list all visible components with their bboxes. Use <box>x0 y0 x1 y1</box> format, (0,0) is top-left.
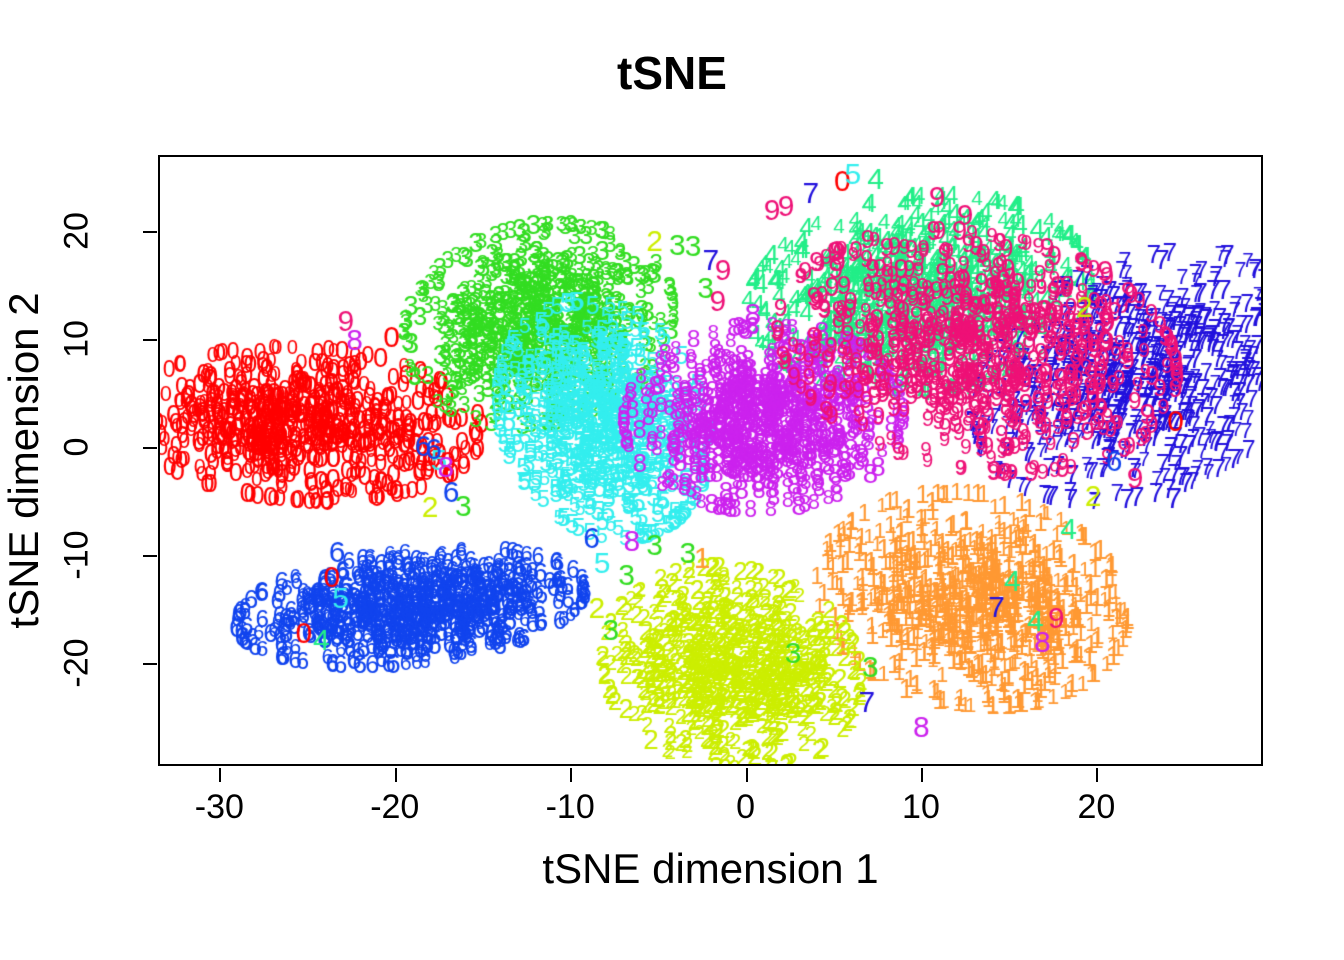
y-tick-label: -20 <box>58 613 97 713</box>
y-tick-mark <box>143 447 157 449</box>
x-tick-label: -30 <box>169 788 269 827</box>
y-tick-label: 10 <box>58 289 97 389</box>
y-axis-label: tSNE dimension 2 <box>0 155 60 766</box>
x-tick-label: 20 <box>1046 788 1146 827</box>
y-tick-mark <box>143 663 157 665</box>
x-tick-mark <box>1096 768 1098 782</box>
tsne-scatter-plot-figure: tSNE -30-20-1001020 -20-1001020 tSNE dim… <box>0 0 1344 960</box>
y-tick-label: 20 <box>58 181 97 281</box>
x-tick-mark <box>570 768 572 782</box>
x-axis-label: tSNE dimension 1 <box>158 845 1263 893</box>
page-title: tSNE <box>0 46 1344 100</box>
x-tick-mark <box>746 768 748 782</box>
x-tick-mark <box>395 768 397 782</box>
y-tick-label: 0 <box>58 397 97 497</box>
x-tick-mark <box>219 768 221 782</box>
y-tick-label: -10 <box>58 505 97 605</box>
y-tick-mark <box>143 231 157 233</box>
x-tick-label: 10 <box>871 788 971 827</box>
scatter-points-canvas <box>160 157 1261 764</box>
plot-frame <box>158 155 1263 766</box>
x-tick-label: -20 <box>345 788 445 827</box>
x-tick-label: 0 <box>696 788 796 827</box>
x-tick-mark <box>921 768 923 782</box>
x-tick-label: -10 <box>520 788 620 827</box>
y-tick-mark <box>143 339 157 341</box>
y-tick-mark <box>143 555 157 557</box>
